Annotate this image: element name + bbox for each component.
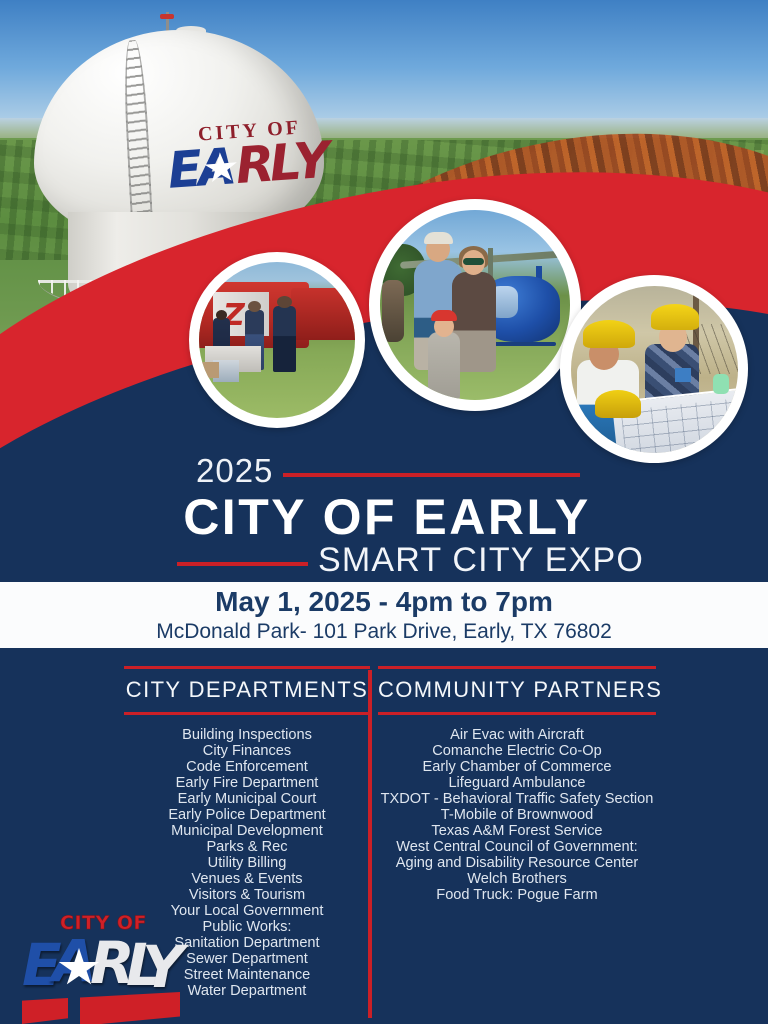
hard-hat-icon bbox=[583, 320, 635, 348]
tower-early-wordmark: E A R L Y bbox=[166, 134, 339, 202]
fire-truck-booth-photo: Z bbox=[199, 262, 355, 418]
community-partners-column: COMMUNITY PARTNERS Air Evac with Aircraf… bbox=[378, 666, 656, 903]
tower-antenna-marker bbox=[160, 14, 174, 19]
circle-photo-family-helicopter bbox=[369, 199, 581, 411]
cardboard-box bbox=[201, 362, 219, 378]
expo-poster: CITY OF E A R L Y Z bbox=[0, 0, 768, 1024]
kids-with-hard-hats-photo bbox=[571, 286, 738, 453]
list-item: Food Truck: Pogue Farm bbox=[378, 887, 656, 903]
popsicle-icon bbox=[713, 374, 729, 394]
list-item: Municipal Development bbox=[124, 823, 370, 839]
logo-letter-y: Y bbox=[142, 938, 184, 996]
fire-truck-rear bbox=[291, 288, 355, 340]
list-item: West Central Council of Government: bbox=[378, 839, 656, 855]
list-item: Parks & Rec bbox=[124, 839, 370, 855]
event-year: 2025 bbox=[196, 452, 273, 490]
circle-photo-inner: Z bbox=[199, 262, 355, 418]
circle-photo-fire-truck: Z bbox=[189, 252, 365, 428]
list-item: Early Municipal Court bbox=[124, 791, 370, 807]
title-block: 2025 CITY OF EARLY SMART CITY EXPO bbox=[0, 452, 768, 582]
hard-hat-icon bbox=[595, 390, 641, 418]
family-with-helicopter-photo bbox=[380, 210, 570, 400]
list-item: Venues & Events bbox=[124, 871, 370, 887]
event-details-bar: May 1, 2025 - 4pm to 7pm McDonald Park- … bbox=[0, 582, 768, 648]
logo-wordmark: E A R L Y bbox=[22, 932, 180, 1004]
list-item: Comanche Electric Co-Op bbox=[378, 743, 656, 759]
list-item: Visitors & Tourism bbox=[124, 887, 370, 903]
poster-title: CITY OF EARLY bbox=[0, 488, 768, 546]
child bbox=[428, 332, 460, 400]
title-rule-bottom bbox=[177, 562, 308, 566]
list-item: City Finances bbox=[124, 743, 370, 759]
list-item: Lifeguard Ambulance bbox=[378, 775, 656, 791]
list-item: Early Fire Department bbox=[124, 775, 370, 791]
tower-letter-y: Y bbox=[292, 135, 332, 187]
community-partners-heading: COMMUNITY PARTNERS bbox=[378, 669, 656, 712]
city-of-early-logo: CITY OF E A R L Y bbox=[22, 912, 180, 1004]
year-row: 2025 bbox=[0, 452, 768, 488]
list-item: Welch Brothers bbox=[378, 871, 656, 887]
list-item: TXDOT - Behavioral Traffic Safety Sectio… bbox=[378, 791, 656, 807]
bystander bbox=[382, 280, 404, 342]
hard-hat-icon bbox=[651, 304, 699, 330]
subtitle-row: SMART CITY EXPO bbox=[0, 545, 768, 585]
event-date: May 1, 2025 - 4pm to 7pm bbox=[215, 586, 553, 618]
list-item: Early Police Department bbox=[124, 807, 370, 823]
circle-photo-inner bbox=[380, 210, 570, 400]
list-item: Building Inspections bbox=[124, 727, 370, 743]
child-red-cap bbox=[431, 310, 457, 321]
list-item: T-Mobile of Brownwood bbox=[378, 807, 656, 823]
title-rule-top bbox=[283, 473, 580, 477]
event-location: McDonald Park- 101 Park Drive, Early, TX… bbox=[156, 619, 612, 645]
list-item: Aging and Disability Resource Center bbox=[378, 855, 656, 871]
city-departments-heading: CITY DEPARTMENTS bbox=[124, 669, 370, 712]
list-item: Utility Billing bbox=[124, 855, 370, 871]
list-item: Air Evac with Aircraft bbox=[378, 727, 656, 743]
list-item: Early Chamber of Commerce bbox=[378, 759, 656, 775]
baseball-cap bbox=[424, 232, 453, 244]
circle-photo-inner bbox=[571, 286, 738, 453]
list-item: Code Enforcement bbox=[124, 759, 370, 775]
sunglasses-icon bbox=[463, 258, 484, 265]
poster-subtitle: SMART CITY EXPO bbox=[318, 541, 644, 580]
list-item: Texas A&M Forest Service bbox=[378, 823, 656, 839]
circle-photo-kids-hardhats bbox=[560, 275, 748, 463]
blue-object bbox=[675, 368, 691, 382]
community-partners-list: Air Evac with Aircraft Comanche Electric… bbox=[378, 715, 656, 903]
person-standing bbox=[273, 306, 296, 372]
